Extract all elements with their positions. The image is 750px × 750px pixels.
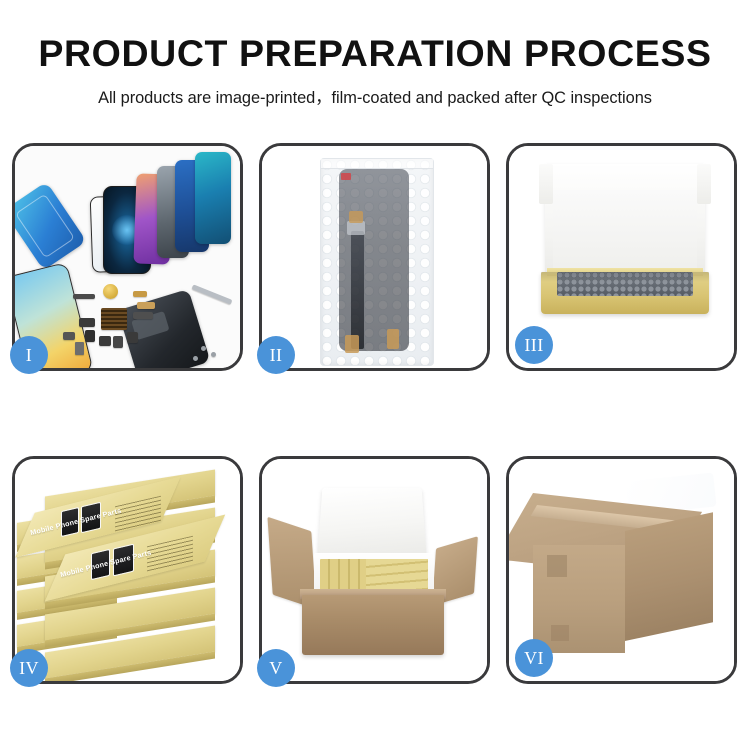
step-number-badge-3: III: [515, 326, 553, 364]
carton-flap-seam-top: [547, 555, 567, 577]
step-image-5: [262, 459, 487, 681]
connector-array-part: [101, 308, 127, 330]
vibration-motor-part: [103, 284, 118, 299]
process-step-panel-6: VI: [506, 456, 737, 684]
page-subtitle: All products are image-printed，film-coat…: [0, 73, 750, 108]
step-number-badge-2: II: [257, 336, 295, 374]
phone-cyan: [195, 152, 231, 244]
small-component-3: [99, 336, 111, 346]
step-number-badge-4: IV: [10, 649, 48, 687]
step-number-badge-5: V: [257, 649, 295, 687]
small-component-4: [113, 336, 123, 348]
screen-protector-film: [15, 182, 87, 271]
bubble-wrap-bag: [320, 158, 434, 366]
process-step-panel-5: V: [259, 456, 490, 684]
carton-body: [302, 595, 444, 655]
lcd-connector: [347, 221, 365, 235]
bubble-wrap-illustration: [262, 146, 487, 368]
phones-and-parts-illustration: [15, 146, 240, 368]
flex-cable-part: [73, 294, 95, 299]
step-image-1: [15, 146, 240, 368]
product-preparation-infographic: PRODUCT PREPARATION PROCESS All products…: [0, 0, 750, 750]
lcd-screen-inside-bag: [339, 169, 409, 351]
page-title: PRODUCT PREPARATION PROCESS: [0, 0, 750, 73]
small-component-6: [133, 312, 153, 319]
process-step-panel-1: I: [12, 143, 243, 371]
header: PRODUCT PREPARATION PROCESS All products…: [0, 0, 750, 108]
connector-part-b: [137, 302, 155, 309]
process-step-panel-3: III: [506, 143, 737, 371]
small-component-1: [79, 318, 95, 327]
step-image-2: [262, 146, 487, 368]
process-step-panel-4: Mobile Phone Spare Parts Mobile Phone Sp…: [12, 456, 243, 684]
foam-lid-face: [553, 190, 697, 276]
lcd-tape-1: [349, 211, 363, 223]
lcd-qc-label: [341, 173, 351, 180]
small-component-5: [127, 332, 138, 343]
sealed-carton-side: [625, 512, 713, 641]
stacked-boxes-illustration: Mobile Phone Spare Parts Mobile Phone Sp…: [15, 459, 240, 681]
connector-part-a: [133, 291, 147, 297]
foam-lid-open: [317, 488, 426, 558]
step-number-badge-6: VI: [515, 639, 553, 677]
open-carton-illustration: [262, 459, 487, 681]
carton-flap-seam-bottom: [551, 625, 569, 641]
lcd-tape-2: [345, 335, 359, 353]
step-number-badge-1: I: [10, 336, 48, 374]
screw-1: [201, 346, 206, 351]
screw-2: [211, 352, 216, 357]
lcd-tape-3: [387, 329, 399, 349]
process-step-grid: I II: [12, 143, 738, 716]
tray-inner-shadow: [541, 272, 709, 282]
lcd-flex-cable: [351, 231, 364, 349]
small-component-8: [63, 332, 75, 340]
small-component-2: [85, 330, 95, 342]
process-step-panel-2: II: [259, 143, 490, 371]
bag-seal: [321, 159, 433, 169]
tweezers-tool: [192, 284, 233, 304]
screw-3: [193, 356, 198, 361]
small-component-7: [75, 342, 84, 355]
step-image-4: Mobile Phone Spare Parts Mobile Phone Sp…: [15, 459, 240, 681]
